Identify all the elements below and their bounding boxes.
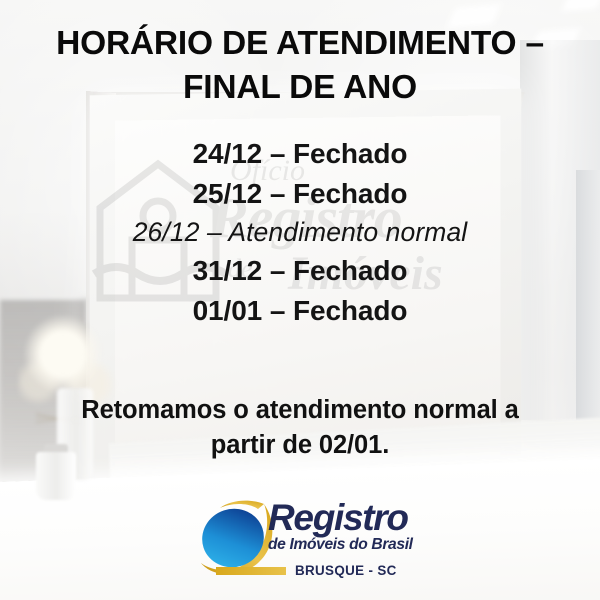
poster-title: HORÁRIO DE ATENDIMENTO – FINAL DE ANO (0, 22, 600, 109)
poster-content: HORÁRIO DE ATENDIMENTO – FINAL DE ANO 24… (0, 0, 600, 600)
title-line-1: HORÁRIO DE ATENDIMENTO – (0, 22, 600, 66)
logo-subtitle: de Imóveis do Brasil (268, 537, 438, 553)
schedule-item: 01/01 – Fechado (0, 291, 600, 331)
announcement-poster: Ofício Registro de Imóveis HORÁRIO DE AT… (0, 0, 600, 600)
logo-wordmark: Registro de Imóveis do Brasil (268, 499, 438, 553)
schedule-item: 25/12 – Fechado (0, 174, 600, 214)
schedule-item: 31/12 – Fechado (0, 251, 600, 291)
closing-message: Retomamos o atendimento normal a partir … (0, 393, 600, 463)
logo-name: Registro (268, 499, 438, 536)
schedule-item: 24/12 – Fechado (0, 134, 600, 174)
schedule-list: 24/12 – Fechado 25/12 – Fechado 26/12 – … (0, 134, 600, 331)
title-line-2: FINAL DE ANO (0, 66, 600, 110)
registro-imoveis-logo: Registro de Imóveis do Brasil BRUSQUE - … (196, 497, 432, 585)
closing-line-1: Retomamos o atendimento normal a (0, 393, 600, 428)
logo-city: BRUSQUE - SC (295, 563, 397, 578)
schedule-item: 26/12 – Atendimento normal (0, 214, 600, 252)
logo-city-row: BRUSQUE - SC (216, 563, 432, 578)
logo-gold-bar (216, 567, 286, 575)
closing-line-2: partir de 02/01. (0, 428, 600, 463)
